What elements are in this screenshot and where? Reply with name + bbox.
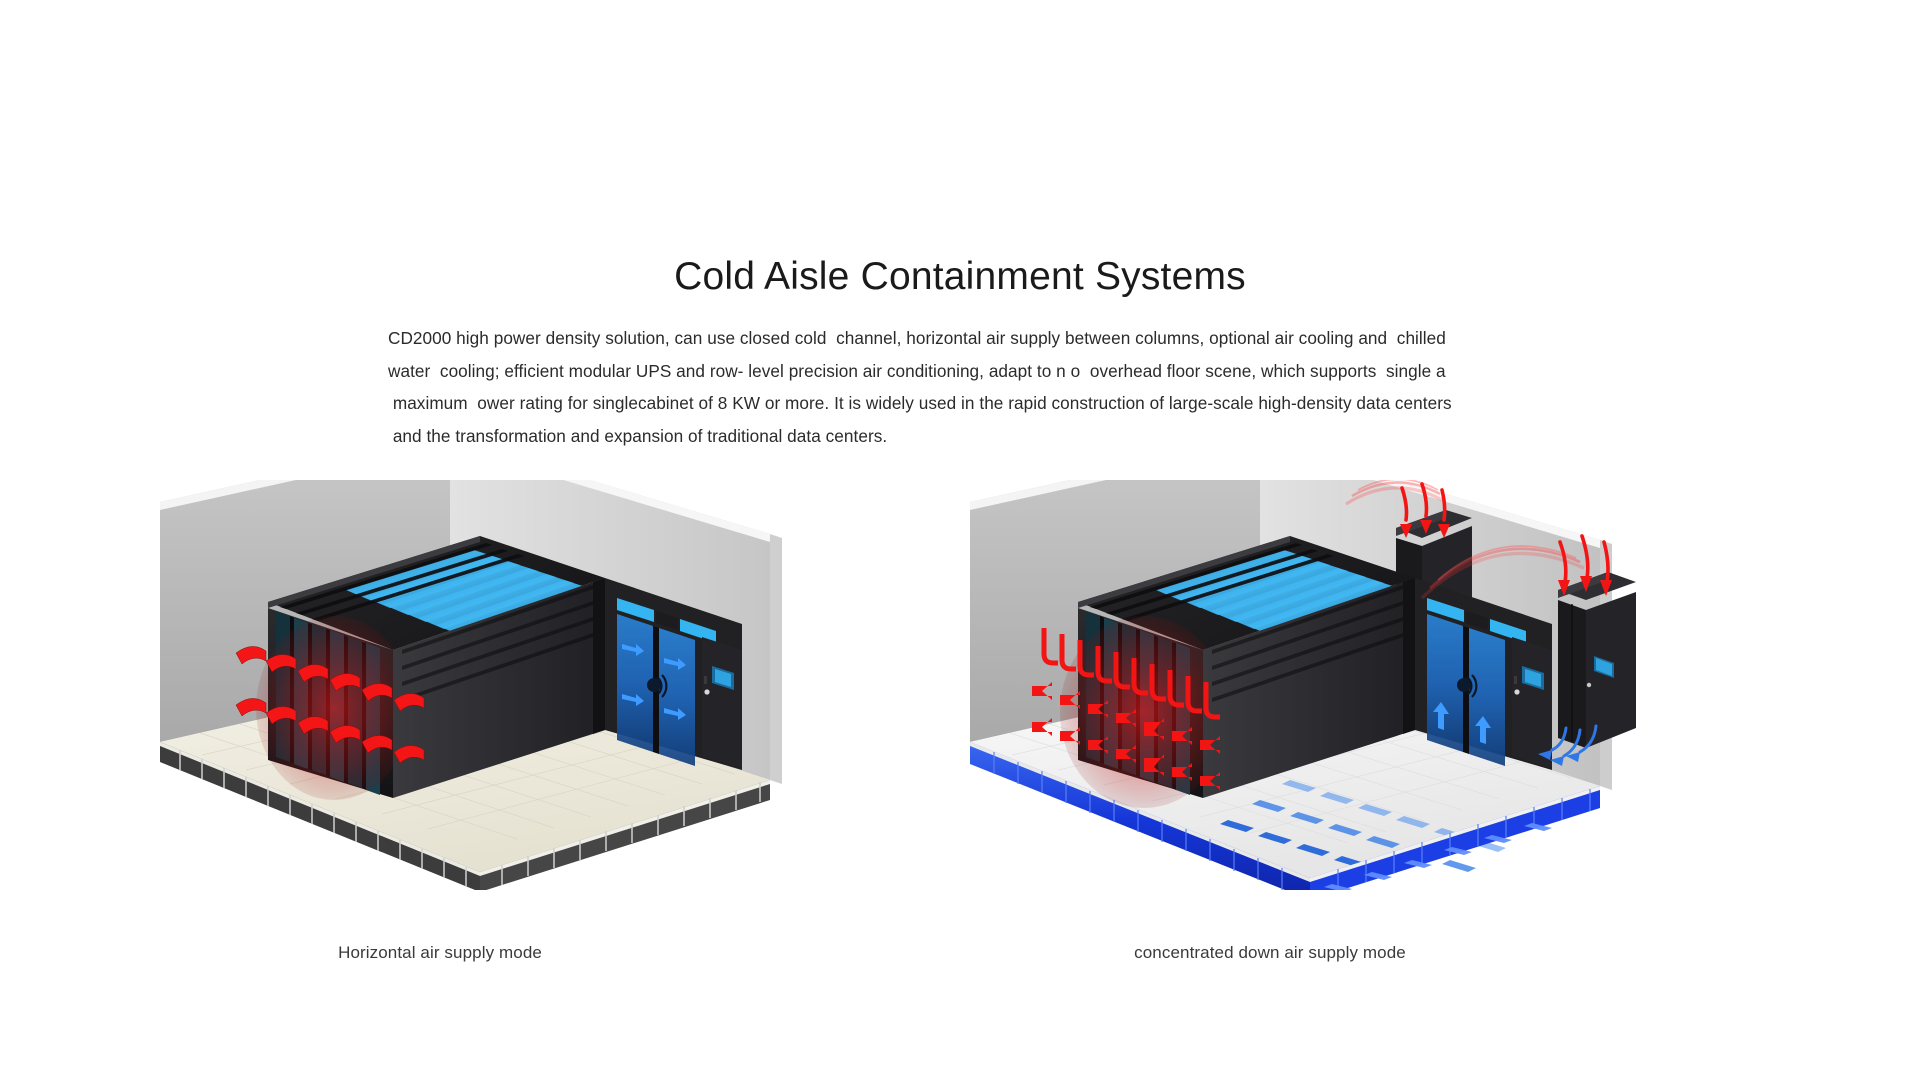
figure-concentrated-down-air-supply [960,480,1780,890]
control-panel[interactable] [702,637,742,768]
intro-line-2: water cooling; efficient modular UPS and… [388,355,1574,388]
intro-line-1: CD2000 high power density solution, can … [388,322,1574,355]
intro-paragraph: CD2000 high power density solution, can … [388,322,1574,452]
glass-double-door[interactable] [1427,614,1505,766]
control-panel[interactable] [1512,637,1552,768]
illustration-concentrated-down-air-supply [960,480,1780,890]
intro-line-3: maximum ower rating for singlecabinet of… [388,387,1574,420]
slide-canvas: Cold Aisle Containment Systems CD2000 hi… [0,0,1920,1080]
figure-row [0,480,1920,940]
caption-concentrated-down-air-supply: concentrated down air supply mode [1020,943,1520,963]
glass-double-door[interactable] [617,614,695,766]
page-title: Cold Aisle Containment Systems [0,254,1920,301]
intro-line-4: and the transformation and expansion of … [388,420,1574,453]
caption-horizontal-air-supply: Horizontal air supply mode [230,943,650,963]
figure-horizontal-air-supply [150,480,950,890]
illustration-horizontal-air-supply [150,480,950,890]
